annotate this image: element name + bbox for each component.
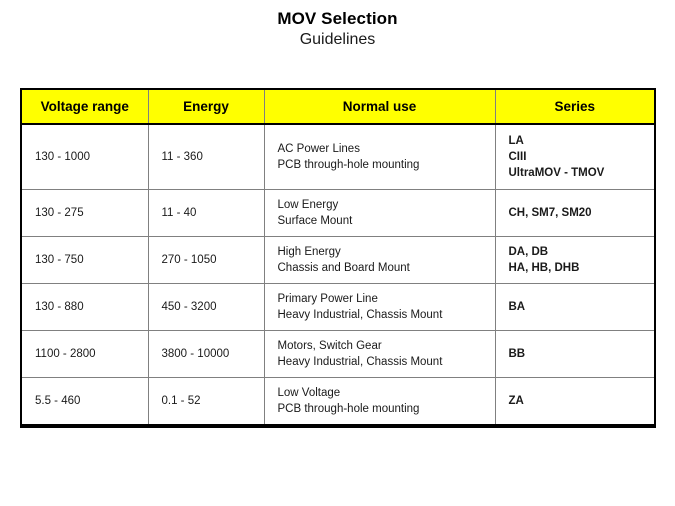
cell-voltage-range: 130 - 275 <box>22 190 148 237</box>
slide-canvas: MOV Selection Guidelines Voltage range E… <box>0 0 675 506</box>
normal-use-line: Low Energy <box>278 197 482 213</box>
cell-normal-use: Primary Power Line Heavy Industrial, Cha… <box>264 284 495 331</box>
cell-series: CH, SM7, SM20 <box>495 190 654 237</box>
cell-normal-use: High Energy Chassis and Board Mount <box>264 237 495 284</box>
series-line: UltraMOV - TMOV <box>509 165 642 181</box>
column-header-normal-use: Normal use <box>264 90 495 124</box>
column-header-voltage-range: Voltage range <box>22 90 148 124</box>
normal-use-line: Heavy Industrial, Chassis Mount <box>278 307 482 323</box>
cell-series: LA CIII UltraMOV - TMOV <box>495 124 654 190</box>
normal-use-line: PCB through-hole mounting <box>278 157 482 173</box>
series-line: HA, HB, DHB <box>509 260 642 276</box>
normal-use-line: Surface Mount <box>278 213 482 229</box>
cell-energy: 270 - 1050 <box>148 237 264 284</box>
cell-series: BA <box>495 284 654 331</box>
normal-use-line: Low Voltage <box>278 385 482 401</box>
normal-use-line: Heavy Industrial, Chassis Mount <box>278 354 482 370</box>
cell-series: DA, DB HA, HB, DHB <box>495 237 654 284</box>
cell-series: BB <box>495 331 654 378</box>
table-row: 1100 - 2800 3800 - 10000 Motors, Switch … <box>22 331 654 378</box>
normal-use-line: Motors, Switch Gear <box>278 338 482 354</box>
cell-voltage-range: 130 - 750 <box>22 237 148 284</box>
cell-energy: 450 - 3200 <box>148 284 264 331</box>
page-subtitle: Guidelines <box>0 29 675 50</box>
table-row: 130 - 1000 11 - 360 AC Power Lines PCB t… <box>22 124 654 190</box>
column-header-energy: Energy <box>148 90 264 124</box>
table-row: 5.5 - 460 0.1 - 52 Low Voltage PCB throu… <box>22 378 654 426</box>
cell-energy: 0.1 - 52 <box>148 378 264 426</box>
cell-normal-use: Motors, Switch Gear Heavy Industrial, Ch… <box>264 331 495 378</box>
cell-energy: 11 - 360 <box>148 124 264 190</box>
normal-use-line: Chassis and Board Mount <box>278 260 482 276</box>
cell-energy: 11 - 40 <box>148 190 264 237</box>
normal-use-line: High Energy <box>278 244 482 260</box>
table-row: 130 - 880 450 - 3200 Primary Power Line … <box>22 284 654 331</box>
series-line: CIII <box>509 149 642 165</box>
cell-normal-use: Low Voltage PCB through-hole mounting <box>264 378 495 426</box>
cell-voltage-range: 130 - 880 <box>22 284 148 331</box>
cell-voltage-range: 130 - 1000 <box>22 124 148 190</box>
series-line: ZA <box>509 393 642 409</box>
table-body: 130 - 1000 11 - 360 AC Power Lines PCB t… <box>22 124 654 425</box>
cell-normal-use: AC Power Lines PCB through-hole mounting <box>264 124 495 190</box>
normal-use-line: Primary Power Line <box>278 291 482 307</box>
mov-selection-table: Voltage range Energy Normal use Series 1… <box>22 90 654 426</box>
series-line: BA <box>509 299 642 315</box>
page-title: MOV Selection <box>0 8 675 29</box>
mov-selection-table-wrapper: Voltage range Energy Normal use Series 1… <box>20 88 656 428</box>
normal-use-line: AC Power Lines <box>278 141 482 157</box>
series-line: CH, SM7, SM20 <box>509 205 642 221</box>
cell-energy: 3800 - 10000 <box>148 331 264 378</box>
series-line: LA <box>509 133 642 149</box>
cell-series: ZA <box>495 378 654 426</box>
table-row: 130 - 750 270 - 1050 High Energy Chassis… <box>22 237 654 284</box>
cell-voltage-range: 1100 - 2800 <box>22 331 148 378</box>
table-row: 130 - 275 11 - 40 Low Energy Surface Mou… <box>22 190 654 237</box>
series-line: DA, DB <box>509 244 642 260</box>
table-header-row: Voltage range Energy Normal use Series <box>22 90 654 124</box>
slide-title-block: MOV Selection Guidelines <box>0 8 675 50</box>
cell-voltage-range: 5.5 - 460 <box>22 378 148 426</box>
cell-normal-use: Low Energy Surface Mount <box>264 190 495 237</box>
column-header-series: Series <box>495 90 654 124</box>
normal-use-line: PCB through-hole mounting <box>278 401 482 417</box>
series-line: BB <box>509 346 642 362</box>
